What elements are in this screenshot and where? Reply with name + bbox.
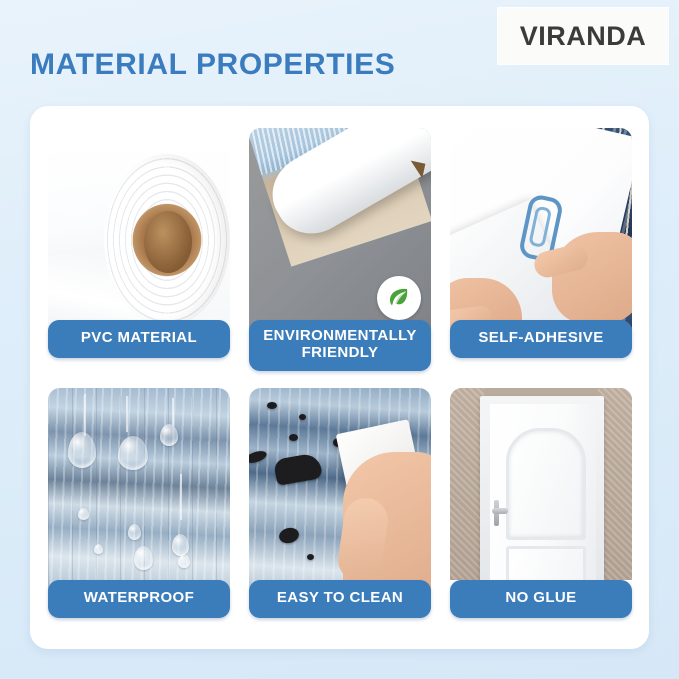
feature-label-self-adhesive: SELF-ADHESIVE bbox=[450, 320, 632, 358]
feature-card-self-adhesive[interactable]: SELF-ADHESIVE bbox=[450, 128, 632, 358]
feature-card-environmentally-friendly[interactable]: ENVIRONMENTALLY FRIENDLY bbox=[249, 128, 431, 358]
dirt-mark bbox=[307, 554, 314, 560]
water-droplet bbox=[78, 508, 89, 520]
dirt-mark bbox=[249, 449, 268, 465]
leaf-icon bbox=[386, 285, 412, 311]
feature-label-waterproof: WATERPROOF bbox=[48, 580, 230, 618]
water-droplet bbox=[172, 534, 189, 556]
water-droplet bbox=[118, 436, 148, 470]
dirt-mark bbox=[273, 452, 323, 486]
water-droplet bbox=[134, 546, 153, 570]
infographic-page: VIRANDA MATERIAL PROPERTIES PVC MATERIAL bbox=[0, 0, 679, 679]
water-trail bbox=[84, 394, 86, 436]
door-handle bbox=[492, 508, 508, 514]
water-droplet bbox=[68, 432, 96, 468]
feature-label-easy-to-clean: EASY TO CLEAN bbox=[249, 580, 431, 618]
feature-card-waterproof[interactable]: WATERPROOF bbox=[48, 388, 230, 618]
feature-card-pvc-material[interactable]: PVC MATERIAL bbox=[48, 128, 230, 358]
brand-name: VIRANDA bbox=[520, 21, 647, 52]
water-droplet bbox=[128, 524, 141, 540]
sheet-corner-shape bbox=[408, 161, 426, 179]
water-trail bbox=[172, 398, 174, 426]
brand-logo-box: VIRANDA bbox=[498, 8, 668, 64]
feature-label-no-glue: NO GLUE bbox=[450, 580, 632, 618]
wall-left bbox=[450, 388, 484, 603]
dirt-mark bbox=[277, 526, 300, 545]
feature-label-pvc-material: PVC MATERIAL bbox=[48, 320, 230, 358]
feature-card-no-glue[interactable]: NO GLUE bbox=[450, 388, 632, 618]
cardboard-core-shape bbox=[144, 211, 192, 273]
water-droplet bbox=[94, 544, 103, 554]
page-title: MATERIAL PROPERTIES bbox=[30, 48, 395, 82]
feature-card-easy-to-clean[interactable]: EASY TO CLEAN bbox=[249, 388, 431, 618]
water-droplet bbox=[178, 554, 190, 568]
door-panel-top bbox=[506, 428, 586, 540]
dirt-mark bbox=[289, 434, 298, 441]
dirt-mark bbox=[267, 402, 277, 409]
feature-label-environmentally-friendly: ENVIRONMENTALLY FRIENDLY bbox=[249, 320, 431, 371]
water-trail bbox=[180, 474, 182, 520]
dirt-mark bbox=[299, 414, 306, 420]
features-grid: PVC MATERIAL ENV bbox=[48, 128, 632, 628]
eco-badge bbox=[377, 276, 421, 320]
water-trail bbox=[126, 396, 128, 432]
water-droplet bbox=[160, 424, 178, 446]
